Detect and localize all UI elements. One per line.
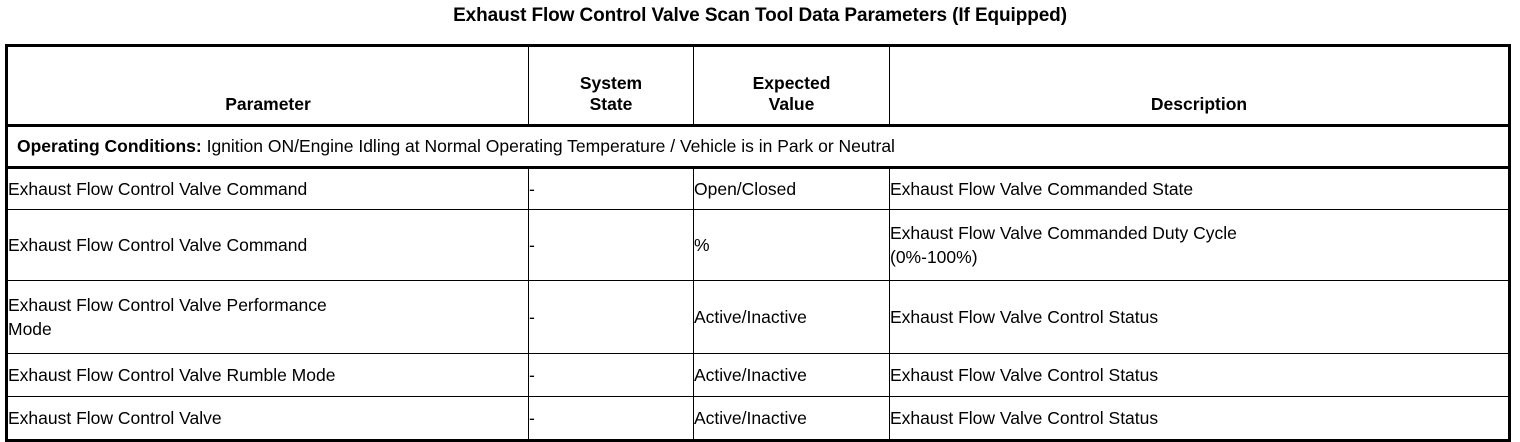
cell-expected-value: Active/Inactive	[694, 354, 890, 397]
description-text-line1: Exhaust Flow Valve Commanded State	[890, 177, 1508, 201]
description-text-line1: Exhaust Flow Valve Control Status	[890, 305, 1508, 329]
page-title: Exhaust Flow Control Valve Scan Tool Dat…	[0, 0, 1520, 27]
cell-description: Exhaust Flow Valve Control Status	[890, 397, 1510, 441]
page-root: Exhaust Flow Control Valve Scan Tool Dat…	[0, 0, 1520, 438]
cell-expected-value: Open/Closed	[694, 168, 890, 210]
cell-system-state: -	[529, 354, 694, 397]
table-header-row: Parameter System State Expected Value De…	[7, 46, 1510, 126]
cell-system-state: -	[529, 281, 694, 354]
cell-system-state: -	[529, 397, 694, 441]
description-text-line1: Exhaust Flow Valve Control Status	[890, 406, 1508, 430]
column-header-system-state-line1: System	[529, 73, 693, 94]
column-header-expected-value-line1: Expected	[694, 73, 889, 94]
description-text-line2: (0%-100%)	[890, 245, 1508, 269]
column-header-expected-value: Expected Value	[694, 46, 890, 126]
cell-parameter: Exhaust Flow Control Valve Command	[7, 168, 529, 210]
cell-description: Exhaust Flow Valve Commanded Duty Cycle …	[890, 210, 1510, 281]
column-header-system-state: System State	[529, 46, 694, 126]
table-row: Exhaust Flow Control Valve - Active/Inac…	[7, 397, 1510, 441]
cell-system-state: -	[529, 210, 694, 281]
table-row: Exhaust Flow Control Valve Rumble Mode -…	[7, 354, 1510, 397]
parameter-text-line2: Mode	[8, 317, 528, 341]
cell-description: Exhaust Flow Valve Control Status	[890, 281, 1510, 354]
column-header-parameter: Parameter	[7, 46, 529, 126]
parameter-text-line1: Exhaust Flow Control Valve Command	[8, 177, 528, 201]
cell-parameter: Exhaust Flow Control Valve	[7, 397, 529, 441]
cell-parameter: Exhaust Flow Control Valve Command	[7, 210, 529, 281]
operating-conditions-text: Ignition ON/Engine Idling at Normal Oper…	[202, 136, 895, 156]
table-row: Exhaust Flow Control Valve Command - % E…	[7, 210, 1510, 281]
column-header-expected-value-line2: Value	[694, 94, 889, 115]
parameter-text-line1: Exhaust Flow Control Valve Command	[8, 233, 528, 257]
cell-expected-value: Active/Inactive	[694, 281, 890, 354]
description-text-line1: Exhaust Flow Valve Control Status	[890, 363, 1508, 387]
column-header-description: Description	[890, 46, 1510, 126]
operating-conditions-row: Operating Conditions: Ignition ON/Engine…	[7, 126, 1510, 168]
cell-description: Exhaust Flow Valve Control Status	[890, 354, 1510, 397]
scan-tool-data-table-container: Parameter System State Expected Value De…	[5, 44, 1508, 442]
table-row: Exhaust Flow Control Valve Performance M…	[7, 281, 1510, 354]
cell-expected-value: %	[694, 210, 890, 281]
cell-parameter: Exhaust Flow Control Valve Rumble Mode	[7, 354, 529, 397]
scan-tool-data-table: Parameter System State Expected Value De…	[5, 44, 1511, 442]
parameter-text-line1: Exhaust Flow Control Valve Rumble Mode	[8, 363, 528, 387]
cell-system-state: -	[529, 168, 694, 210]
cell-expected-value: Active/Inactive	[694, 397, 890, 441]
parameter-text-line1: Exhaust Flow Control Valve Performance	[8, 293, 528, 317]
cell-description: Exhaust Flow Valve Commanded State	[890, 168, 1510, 210]
cell-parameter: Exhaust Flow Control Valve Performance M…	[7, 281, 529, 354]
description-text-line1: Exhaust Flow Valve Commanded Duty Cycle	[890, 221, 1508, 245]
parameter-text-line1: Exhaust Flow Control Valve	[8, 406, 528, 430]
table-row: Exhaust Flow Control Valve Command - Ope…	[7, 168, 1510, 210]
column-header-system-state-line2: State	[529, 94, 693, 115]
operating-conditions-cell: Operating Conditions: Ignition ON/Engine…	[7, 126, 1510, 168]
operating-conditions-label: Operating Conditions:	[17, 136, 202, 156]
